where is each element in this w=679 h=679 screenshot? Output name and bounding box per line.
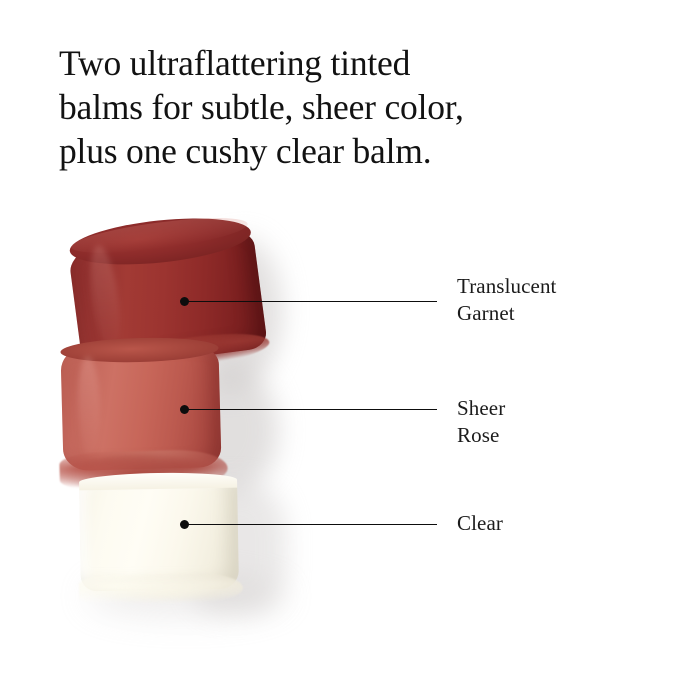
headline-line-1: Two ultraflattering tinted [59, 41, 629, 85]
headline-line-2: balms for subtle, sheer color, [59, 85, 629, 129]
callout-leader-line [188, 301, 437, 302]
page-headline: Two ultraflattering tinted balms for sub… [59, 41, 629, 173]
callout-leader-line [188, 524, 437, 525]
balm-slab-rose [60, 345, 221, 471]
callout-label-clear: Clear [457, 510, 503, 537]
balm-slab-clear [79, 477, 239, 592]
callout-leader-line [188, 409, 437, 410]
callout-label-translucent-garnet: Translucent Garnet [457, 273, 557, 327]
headline-line-3: plus one cushy clear balm. [59, 129, 629, 173]
callout-label-sheer-rose: Sheer Rose [457, 395, 505, 449]
product-infographic: Two ultraflattering tinted balms for sub… [0, 0, 679, 679]
